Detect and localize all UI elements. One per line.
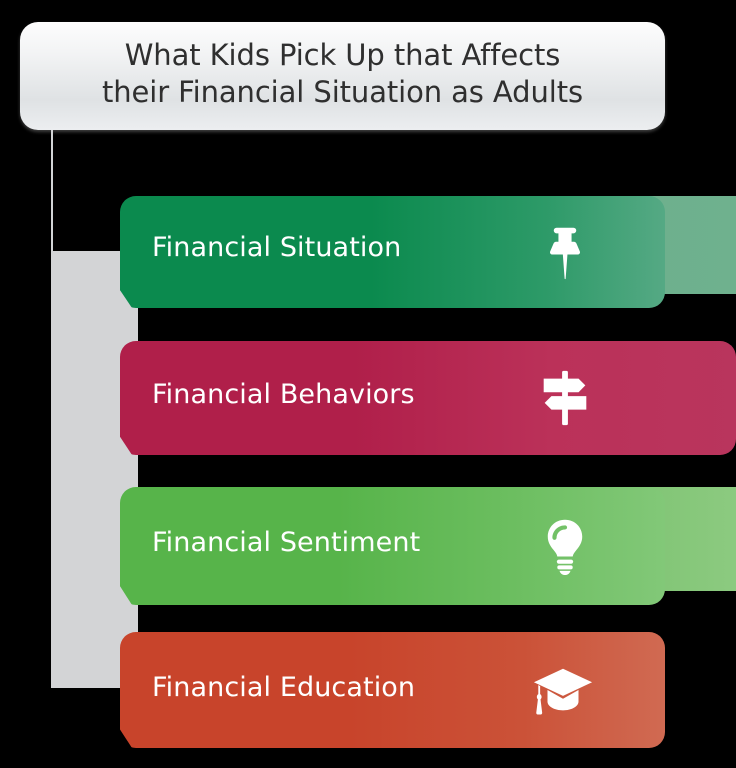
bar-surface[interactable] bbox=[120, 341, 736, 455]
title-card: What Kids Pick Up that Affects their Fin… bbox=[20, 22, 665, 130]
list-item[interactable]: Financial Education bbox=[0, 632, 736, 748]
list-item[interactable]: Financial Sentiment bbox=[0, 487, 736, 605]
bar-surface[interactable] bbox=[120, 487, 665, 605]
page-title: What Kids Pick Up that Affects their Fin… bbox=[102, 37, 583, 110]
bar-surface[interactable] bbox=[120, 196, 665, 308]
connector-panel bbox=[51, 251, 138, 688]
infographic-canvas: What Kids Pick Up that Affects their Fin… bbox=[0, 0, 736, 768]
list-item[interactable]: Financial Behaviors bbox=[0, 341, 736, 455]
bar-surface[interactable] bbox=[120, 632, 665, 748]
list-item[interactable]: Financial Situation bbox=[0, 196, 736, 308]
